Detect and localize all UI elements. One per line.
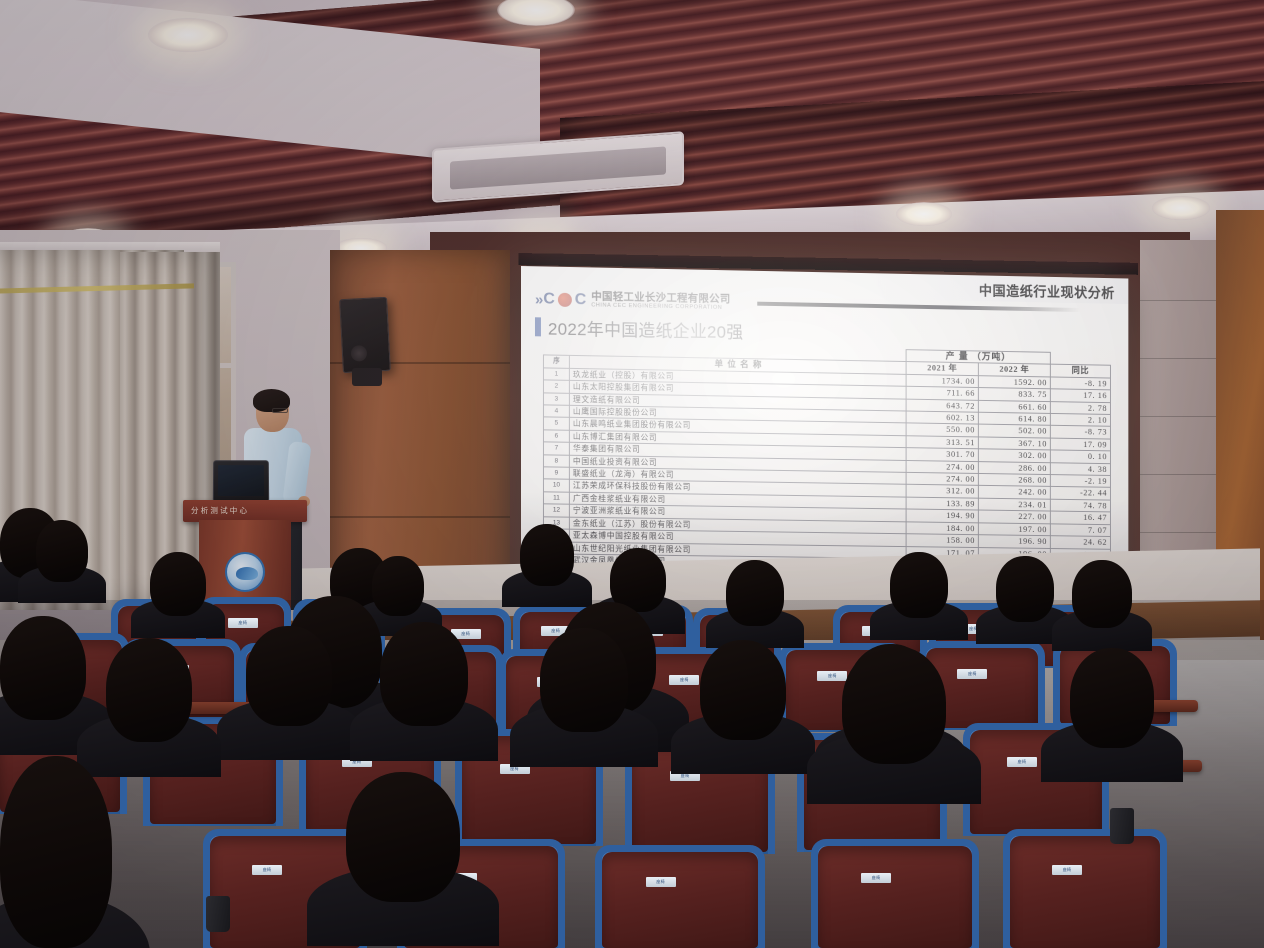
audience-head xyxy=(150,552,206,616)
audience-head xyxy=(890,552,948,618)
lecture-hall-photo: 中国造纸行业现状分析 » C C 中国轻工业长沙工程有限公司 CHINA CEC… xyxy=(0,0,1264,948)
cell-index: 7 xyxy=(543,442,569,455)
audience-head xyxy=(520,524,574,586)
cell-yoy-percent: -2. 19 xyxy=(1050,475,1110,488)
cell-yoy-percent: -22. 44 xyxy=(1050,487,1110,500)
company-logo: » C C 中国轻工业长沙工程有限公司 CHINA CEC ENGINEERIN… xyxy=(535,290,730,312)
seat-number-tag: 座椅 xyxy=(861,873,891,883)
cell-yoy-percent: 24. 62 xyxy=(1050,536,1110,549)
laptop[interactable] xyxy=(213,460,269,502)
audience-head xyxy=(0,756,112,948)
cell-index: 5 xyxy=(543,417,569,430)
cell-output-2022: 234. 01 xyxy=(978,498,1050,511)
audience-head xyxy=(0,616,86,720)
audience-head xyxy=(700,640,786,740)
audience-member xyxy=(106,638,192,742)
audience-head xyxy=(1072,560,1132,628)
audience-member xyxy=(540,628,628,732)
heading-accent-bar xyxy=(535,317,541,336)
audience-member xyxy=(700,640,786,740)
cell-output-2021: 274. 00 xyxy=(906,460,978,473)
audience-member xyxy=(996,556,1054,622)
audience-head xyxy=(842,646,946,764)
cell-yoy-percent: 0. 10 xyxy=(1050,450,1110,463)
cell-yoy-percent: 74. 78 xyxy=(1050,499,1110,512)
audience-member xyxy=(726,560,784,626)
cell-output-2021: 301. 70 xyxy=(906,448,978,461)
wall-speaker xyxy=(339,297,391,373)
audience-head xyxy=(540,628,628,732)
auditorium-seat[interactable]: 座椅 xyxy=(818,846,972,948)
cell-yoy-percent: -8. 73 xyxy=(1050,426,1110,439)
cell-output-2022: 196. 90 xyxy=(978,535,1050,548)
globe-logo-icon xyxy=(558,293,572,307)
seat-number-tag: 座椅 xyxy=(1007,757,1037,767)
cell-output-2021: 313. 51 xyxy=(906,436,978,449)
podium-top: 分析测试中心 xyxy=(183,500,307,522)
auditorium-seat[interactable]: 座椅 xyxy=(1010,836,1160,948)
ceiling-downlight-icon xyxy=(1152,196,1210,220)
audience-head xyxy=(996,556,1054,622)
cell-yoy-percent: 2. 10 xyxy=(1050,413,1110,426)
cell-index: 1 xyxy=(543,368,569,381)
audience-head xyxy=(380,622,468,726)
cell-yoy-percent: 17. 09 xyxy=(1050,438,1110,451)
audience-head xyxy=(1070,648,1154,748)
cell-index: 11 xyxy=(543,492,569,505)
ceiling-downlight-icon xyxy=(896,202,952,226)
th-yoy: 同比 xyxy=(1050,365,1110,378)
cell-output-2021: 602. 13 xyxy=(906,411,978,424)
seat-number-tag: 座椅 xyxy=(957,669,987,679)
th-index: 序 xyxy=(543,355,569,368)
audience-member xyxy=(36,520,88,582)
audience-head xyxy=(346,772,460,902)
cell-index: 4 xyxy=(543,405,569,418)
audience-member xyxy=(0,616,86,720)
audience-head xyxy=(106,638,192,742)
cell-yoy-percent: 17. 16 xyxy=(1050,389,1110,402)
seat-number-tag: 座椅 xyxy=(669,675,699,685)
cell-index: 2 xyxy=(543,380,569,393)
cell-output-2022: 197. 00 xyxy=(978,523,1050,536)
audience-head xyxy=(36,520,88,582)
seat-number-tag: 座椅 xyxy=(1052,865,1082,875)
slide-header-title: 中国造纸行业现状分析 xyxy=(979,279,1115,301)
cell-yoy-percent: 7. 07 xyxy=(1050,524,1110,537)
cell-output-2022: 302. 00 xyxy=(978,449,1050,462)
heading-text: 2022年中国造纸企业20强 xyxy=(548,315,743,344)
th-yoy-spacer xyxy=(1050,352,1110,365)
cell-index: 12 xyxy=(543,504,569,517)
audience-member xyxy=(1070,648,1154,748)
slide-heading: 2022年中国造纸企业20强 xyxy=(535,314,743,343)
cell-output-2021: 312. 00 xyxy=(906,485,978,498)
waste-bin xyxy=(1110,808,1134,844)
audience-member xyxy=(842,646,946,764)
audience-member xyxy=(346,772,460,902)
waste-bin xyxy=(206,896,230,932)
cell-output-2022: 614. 80 xyxy=(978,412,1050,425)
seat-number-tag: 座椅 xyxy=(646,877,676,887)
th-index-line1: 序 xyxy=(547,356,566,368)
cell-index: 10 xyxy=(543,479,569,492)
auditorium-seat[interactable]: 座椅 xyxy=(602,852,758,948)
audience-member xyxy=(0,756,112,948)
logo-letter-c-right: C xyxy=(575,291,587,309)
chevron-logo-icon: » xyxy=(535,291,540,308)
audience-head xyxy=(246,626,332,726)
cell-output-2022: 367. 10 xyxy=(978,437,1050,450)
audience-member xyxy=(380,622,468,726)
audience-head xyxy=(726,560,784,626)
institution-emblem-icon xyxy=(225,552,265,592)
cell-index: 9 xyxy=(543,467,569,480)
cell-index: 8 xyxy=(543,455,569,468)
speaker-mount-bracket xyxy=(352,368,382,386)
cell-output-2021: 550. 00 xyxy=(906,423,978,436)
cell-output-2021: 274. 00 xyxy=(906,472,978,485)
logo-letter-c-left: C xyxy=(543,290,555,308)
cell-output-2022: 286. 00 xyxy=(978,461,1050,474)
cell-output-2022: 227. 00 xyxy=(978,510,1050,523)
cell-index: 6 xyxy=(543,430,569,443)
logo-divider-rule xyxy=(757,302,1080,312)
cell-yoy-percent: 16. 47 xyxy=(1050,511,1110,524)
audience-member xyxy=(890,552,948,618)
audience-member xyxy=(1072,560,1132,628)
th-index-spacer xyxy=(543,343,569,356)
cell-output-2022: 242. 00 xyxy=(978,486,1050,499)
cell-index: 3 xyxy=(543,393,569,406)
ceiling-downlight-icon xyxy=(148,18,228,52)
cell-output-2021: 194. 90 xyxy=(906,509,978,522)
audience-member xyxy=(246,626,332,726)
cell-output-2021: 133. 89 xyxy=(906,497,978,510)
seat-back xyxy=(602,852,758,948)
seat-back xyxy=(1010,836,1160,948)
podium-label: 分析测试中心 xyxy=(191,505,249,516)
audience-member xyxy=(150,552,206,616)
cell-yoy-percent: 4. 38 xyxy=(1050,462,1110,475)
audience-member xyxy=(520,524,574,586)
glasses-icon xyxy=(272,408,288,413)
cell-output-2021: 184. 00 xyxy=(906,522,978,535)
cell-output-2022: 268. 00 xyxy=(978,474,1050,487)
cell-output-2022: 502. 00 xyxy=(978,425,1050,438)
cell-yoy-percent: -8. 19 xyxy=(1050,377,1110,390)
logo-company-name-en: CHINA CEC ENGINEERING CORPORATION xyxy=(591,303,730,312)
cell-output-2021: 158. 00 xyxy=(906,534,978,547)
cell-yoy-percent: 2. 78 xyxy=(1050,401,1110,414)
seat-back xyxy=(818,846,972,948)
seat-number-tag: 座椅 xyxy=(252,865,282,875)
